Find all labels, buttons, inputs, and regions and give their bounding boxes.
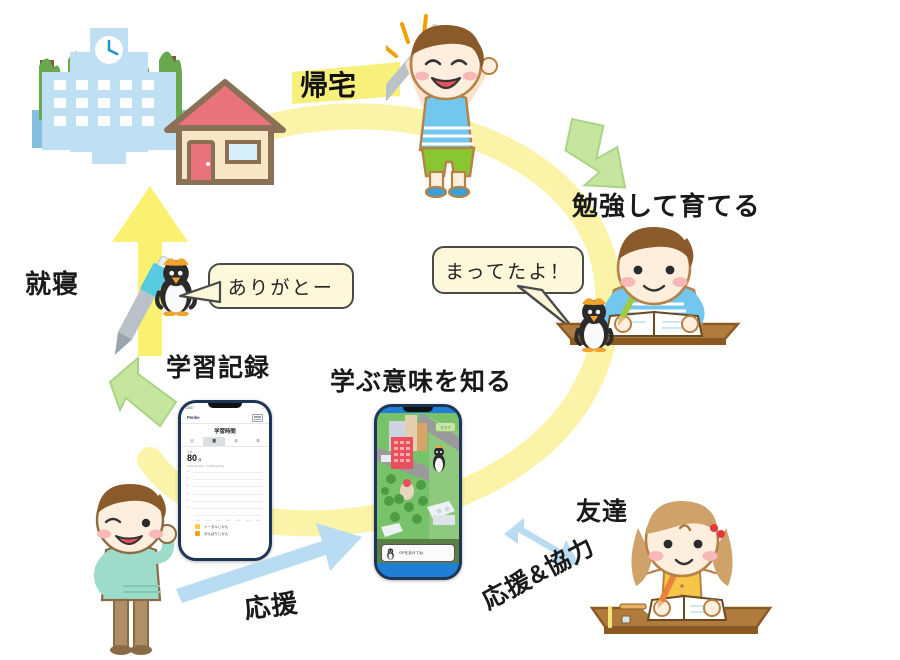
label-study-record: 学習記録 bbox=[166, 348, 270, 384]
chart-y-tick: 120 bbox=[186, 471, 190, 473]
hamburger-menu-icon[interactable] bbox=[252, 414, 263, 422]
tab-year[interactable]: 年 bbox=[247, 437, 269, 446]
penguin-avatar-icon bbox=[385, 547, 396, 560]
chart-gridline bbox=[193, 501, 263, 502]
speech-bubble-thanks-tail bbox=[178, 276, 222, 310]
graph-button[interactable]: グラフ bbox=[435, 422, 456, 432]
speech-bubble-thanks-text: ありがとー bbox=[228, 273, 334, 300]
label-know-meaning: 学ぶ意味を知る bbox=[330, 362, 512, 398]
label-cheer: 応援 bbox=[242, 583, 300, 626]
chart-gridline bbox=[193, 472, 263, 473]
label-home-return: 帰宅 bbox=[292, 62, 364, 106]
label-bedtime: 就寝 bbox=[25, 264, 79, 301]
kpi-value: 80 bbox=[187, 453, 197, 463]
tab-day[interactable]: 日 bbox=[181, 437, 203, 446]
chart-gridline bbox=[193, 486, 263, 487]
kpi-date-range: 2019年11月04日 - 2019年11月10日 bbox=[187, 464, 263, 468]
dialogue-bar[interactable]: GPをあげてね bbox=[381, 544, 455, 562]
status-time: 18:07 bbox=[186, 406, 194, 410]
period-tabs[interactable]: 日 週 月 年 bbox=[181, 437, 269, 447]
house-icon bbox=[163, 78, 288, 188]
chart-gridline bbox=[193, 494, 263, 495]
tab-week[interactable]: 週 bbox=[203, 437, 225, 446]
app-bar: Penbe bbox=[181, 412, 269, 424]
app-name: Penbe bbox=[187, 415, 200, 420]
dialogue-text: GPをあげてね bbox=[399, 551, 423, 556]
phone-game-city[interactable]: グラフ GPをあげてね bbox=[374, 404, 462, 580]
speech-bubble-thanks: ありがとー bbox=[208, 263, 354, 309]
kpi-block: 平均 80分 2019年11月04日 - 2019年11月10日 bbox=[181, 447, 269, 468]
phone-notch bbox=[208, 403, 242, 408]
section-title: 学習時間 bbox=[181, 427, 269, 435]
tab-month[interactable]: 月 bbox=[225, 437, 247, 446]
infographic-canvas: 帰宅 bbox=[0, 0, 900, 660]
penguin-mascot-icon bbox=[572, 294, 616, 352]
kpi-unit: 分 bbox=[198, 458, 202, 462]
chart-gridline bbox=[193, 479, 263, 480]
kid-cheering-figure bbox=[386, 12, 506, 198]
phone-notch bbox=[403, 407, 433, 412]
status-icons: ⋯ bbox=[261, 406, 264, 410]
